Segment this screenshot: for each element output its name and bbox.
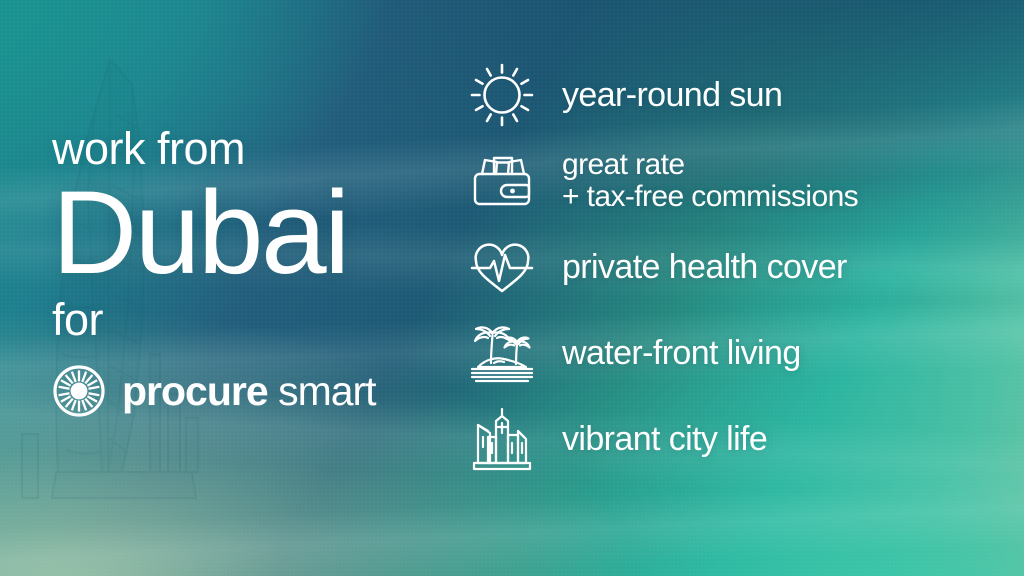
- benefit-item-sun: year-round sun: [466, 52, 1012, 138]
- sun-icon: [466, 59, 538, 131]
- benefit-item-health: private health cover: [466, 224, 1012, 310]
- headline-block: work from Dubai for: [52, 126, 472, 418]
- heart-pulse-icon: [466, 231, 538, 303]
- benefit-label: private health cover: [562, 249, 847, 286]
- brand-logo: procure smart: [52, 364, 472, 418]
- benefit-item-rate: great rate+ tax-free commissions: [466, 138, 1012, 224]
- palm-island-icon: [466, 317, 538, 389]
- benefits-list: year-round sun great rate+ tax-fr: [466, 52, 1012, 482]
- headline-city: Dubai: [52, 173, 472, 293]
- procure-smart-sunburst-icon: [52, 364, 106, 418]
- benefit-item-city: vibrant city life: [466, 396, 1012, 482]
- promotional-banner: work from Dubai for: [0, 0, 1024, 576]
- benefit-label-line2: + tax-free commissions: [562, 181, 858, 213]
- brand-wordmark: procure smart: [122, 371, 376, 412]
- benefit-label: water-front living: [562, 335, 801, 372]
- benefit-item-waterfront: water-front living: [466, 310, 1012, 396]
- wallet-icon: [466, 145, 538, 217]
- benefit-label: great rate+ tax-free commissions: [562, 149, 858, 214]
- benefit-label: year-round sun: [562, 77, 782, 114]
- city-skyline-icon: [466, 403, 538, 475]
- wordmark-secondary: smart: [278, 368, 376, 414]
- headline-kicker: work from: [52, 126, 472, 171]
- wordmark-primary: procure: [122, 368, 268, 414]
- benefit-label-line1: great rate: [562, 148, 684, 181]
- headline-connector: for: [52, 297, 472, 342]
- benefit-label: vibrant city life: [562, 421, 767, 458]
